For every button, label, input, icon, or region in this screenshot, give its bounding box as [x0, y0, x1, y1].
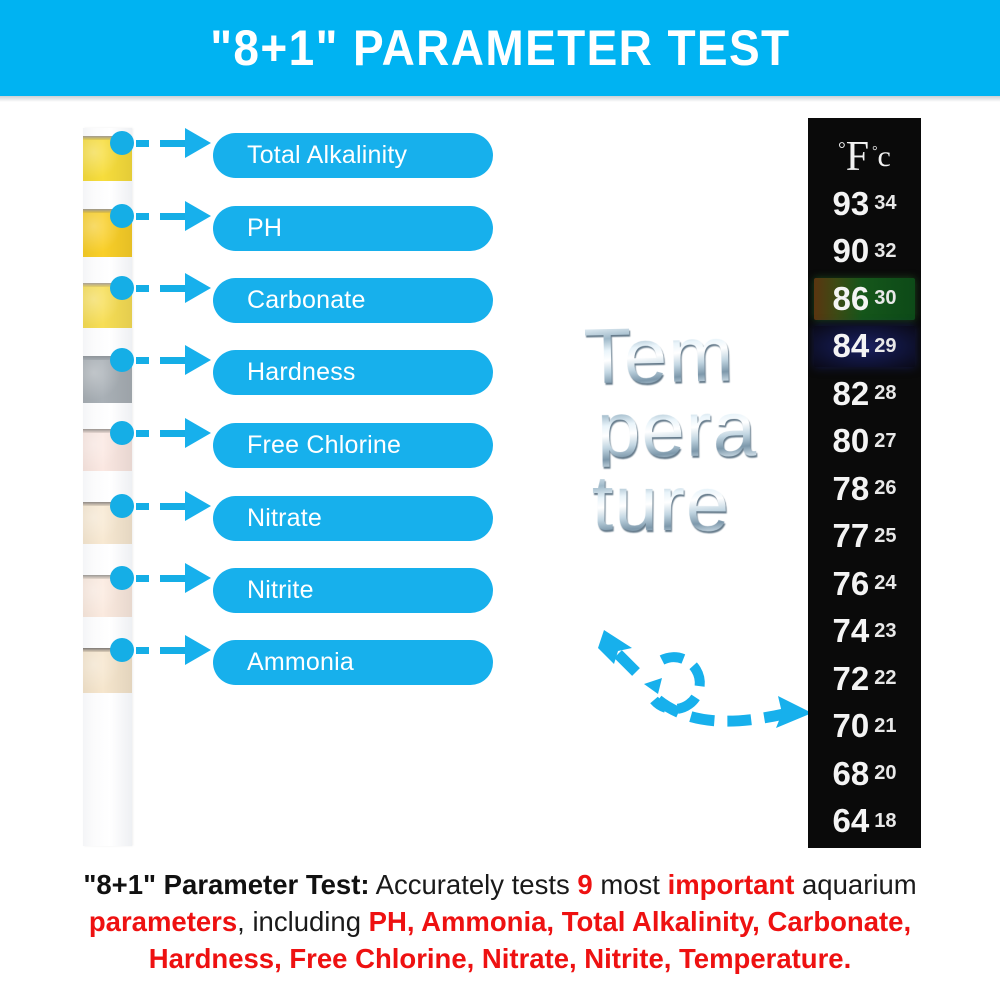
thermometer-fahrenheit-value: 93: [833, 185, 870, 223]
thermometer-celsius-value: 18: [874, 810, 896, 833]
thermometer-row-82f: 8228: [808, 370, 921, 418]
page-title: "8+1" PARAMETER TEST: [210, 19, 790, 77]
thermometer-fahrenheit-value: 80: [833, 422, 870, 460]
strip-pad-color: [83, 579, 132, 617]
thermometer-row-70f: 7021: [808, 703, 921, 751]
strip-pad-color: [83, 140, 132, 181]
strip-pad-color: [83, 506, 132, 544]
strip-pad-carbonate: [83, 283, 132, 328]
thermometer-celsius-value: 20: [874, 762, 896, 785]
caption-param-list-2: Hardness, Free Chlorine, Nitrate, Nitrit…: [149, 943, 851, 974]
thermometer-row-group: 9334903286308429822880277826772576247423…: [808, 180, 921, 845]
thermometer-fahrenheit-value: 77: [833, 517, 870, 555]
connector-dash: [160, 357, 186, 364]
thermometer-fahrenheit-value: 64: [833, 802, 870, 840]
connector-dash: [160, 430, 186, 437]
thermometer-row-72f: 7222: [808, 655, 921, 703]
parameter-pill-ammonia[interactable]: Ammonia: [213, 640, 493, 685]
strip-pad-hardness: [83, 356, 132, 403]
caption-parameters: parameters: [89, 906, 237, 937]
thermometer-celsius-value: 30: [874, 287, 896, 310]
caption-title: "8+1" Parameter Test:: [83, 869, 369, 900]
parameter-pill-carbonate[interactable]: Carbonate: [213, 278, 493, 323]
arrow-head-icon: [185, 491, 211, 521]
caption-text-a: Accurately tests: [370, 869, 578, 900]
thermometer-row-68f: 6820: [808, 750, 921, 798]
thermometer-row-84f: 8429: [808, 323, 921, 371]
thermometer-celsius-value: 34: [874, 192, 896, 215]
parameter-pill-total-alkalinity[interactable]: Total Alkalinity: [213, 133, 493, 178]
arrow-head-icon: [185, 563, 211, 593]
temperature-word-line-1: Tem: [513, 315, 804, 395]
connector-dash: [136, 575, 149, 582]
connector-dash: [160, 503, 186, 510]
arrow-head-icon: [185, 273, 211, 303]
thermometer-fahrenheit-value: 74: [833, 612, 870, 650]
thermometer-fahrenheit-value: 68: [833, 755, 870, 793]
parameter-pill-nitrite[interactable]: Nitrite: [213, 568, 493, 613]
celsius-unit-label: °c: [872, 131, 891, 177]
strip-pad-nitrite: [83, 575, 132, 617]
product-infographic: "8+1" PARAMETER TEST Total AlkalinityPHC…: [0, 0, 1000, 1000]
thermometer-row-77f: 7725: [808, 513, 921, 561]
strip-pad-color: [83, 287, 132, 328]
arrow-head-icon: [185, 128, 211, 158]
thermometer-celsius-value: 26: [874, 477, 896, 500]
strip-pad-color: [83, 433, 132, 471]
thermometer-row-93f: 9334: [808, 180, 921, 228]
connector-dash: [160, 285, 186, 292]
parameter-pill-nitrate[interactable]: Nitrate: [213, 496, 493, 541]
thermometer-row-74f: 7423: [808, 608, 921, 656]
thermometer-fahrenheit-value: 86: [833, 280, 870, 318]
connector-dash: [136, 357, 149, 364]
connector-dash: [136, 285, 149, 292]
thermometer-row-64f: 6418: [808, 798, 921, 846]
parameter-pill-ph[interactable]: PH: [213, 206, 493, 251]
connector-dash: [136, 647, 149, 654]
thermometer-fahrenheit-value: 78: [833, 470, 870, 508]
connector-dash: [136, 430, 149, 437]
caption-param-list-1: PH, Ammonia, Total Alkalinity, Carbonate…: [369, 906, 911, 937]
strip-pad-color: [83, 360, 132, 403]
curved-dashed-arrow: [596, 622, 816, 747]
strip-pad-color: [83, 213, 132, 257]
parameter-pill-label: Carbonate: [213, 286, 366, 315]
thermometer-celsius-value: 32: [874, 240, 896, 263]
caption-text-c: aquarium: [794, 869, 916, 900]
thermometer-fahrenheit-value: 72: [833, 660, 870, 698]
thermometer-row-86f: 8630: [808, 275, 921, 323]
test-strip: [83, 128, 132, 846]
thermometer-units-header: °F °c: [808, 118, 921, 180]
caption-nine: 9: [577, 869, 592, 900]
connector-dash: [160, 213, 186, 220]
header-banner: "8+1" PARAMETER TEST: [0, 0, 1000, 96]
parameter-pill-label: Total Alkalinity: [213, 141, 407, 170]
thermometer-fahrenheit-value: 84: [833, 327, 870, 365]
caption-important: important: [668, 869, 795, 900]
thermometer-fahrenheit-value: 70: [833, 707, 870, 745]
parameter-pill-hardness[interactable]: Hardness: [213, 350, 493, 395]
arrow-head-icon: [185, 418, 211, 448]
strip-pad-total-alkalinity: [83, 136, 132, 181]
banner-shadow: [0, 96, 1000, 102]
thermometer-fahrenheit-value: 76: [833, 565, 870, 603]
parameter-pill-label: Hardness: [213, 358, 356, 387]
connector-dash: [160, 575, 186, 582]
connector-dash: [160, 647, 186, 654]
arrow-head-icon: [185, 635, 211, 665]
parameter-pill-label: PH: [213, 214, 282, 243]
connector-dash: [160, 140, 186, 147]
caption-block: "8+1" Parameter Test: Accurately tests 9…: [28, 866, 972, 977]
parameter-pill-label: Nitrate: [213, 504, 322, 533]
thermometer-celsius-value: 29: [874, 335, 896, 358]
caption-text-d: , including: [237, 906, 368, 937]
thermometer-row-76f: 7624: [808, 560, 921, 608]
connector-dash: [136, 140, 149, 147]
fahrenheit-unit-label: °F: [838, 130, 869, 177]
thermometer-celsius-value: 22: [874, 667, 896, 690]
thermometer-row-78f: 7826: [808, 465, 921, 513]
arrow-head-icon: [185, 201, 211, 231]
caption-text-b: most: [593, 869, 668, 900]
strip-pad-color: [83, 652, 132, 693]
thermometer-fahrenheit-value: 82: [833, 375, 870, 413]
thermometer-celsius-value: 21: [874, 715, 896, 738]
thermometer-fahrenheit-value: 90: [833, 232, 870, 270]
parameter-pill-label: Ammonia: [213, 648, 354, 677]
strip-pad-ammonia: [83, 648, 132, 693]
connector-dash: [136, 213, 149, 220]
thermometer-celsius-value: 28: [874, 382, 896, 405]
parameter-pill-label: Free Chlorine: [213, 431, 401, 460]
arrow-head-icon: [185, 345, 211, 375]
thermometer-celsius-value: 27: [874, 430, 896, 453]
temperature-word-line-2: pera: [532, 390, 823, 467]
thermometer-celsius-value: 24: [874, 572, 896, 595]
parameter-pill-free-chlorine[interactable]: Free Chlorine: [213, 423, 493, 468]
thermometer-celsius-value: 25: [874, 525, 896, 548]
thermometer-strip: °F °c 9334903286308429822880277826772576…: [808, 118, 921, 848]
connector-dash: [136, 503, 149, 510]
strip-pad-nitrate: [83, 502, 132, 544]
thermometer-row-90f: 9032: [808, 228, 921, 276]
parameter-pill-label: Nitrite: [213, 576, 314, 605]
strip-pad-free-chlorine: [83, 429, 132, 471]
thermometer-celsius-value: 23: [874, 620, 896, 643]
degree-icon: °: [838, 139, 846, 160]
temperature-wordmark: Tem pera ture: [520, 318, 810, 540]
strip-pad-ph: [83, 209, 132, 257]
temperature-word-line-3: ture: [516, 465, 807, 541]
thermometer-row-80f: 8027: [808, 418, 921, 466]
